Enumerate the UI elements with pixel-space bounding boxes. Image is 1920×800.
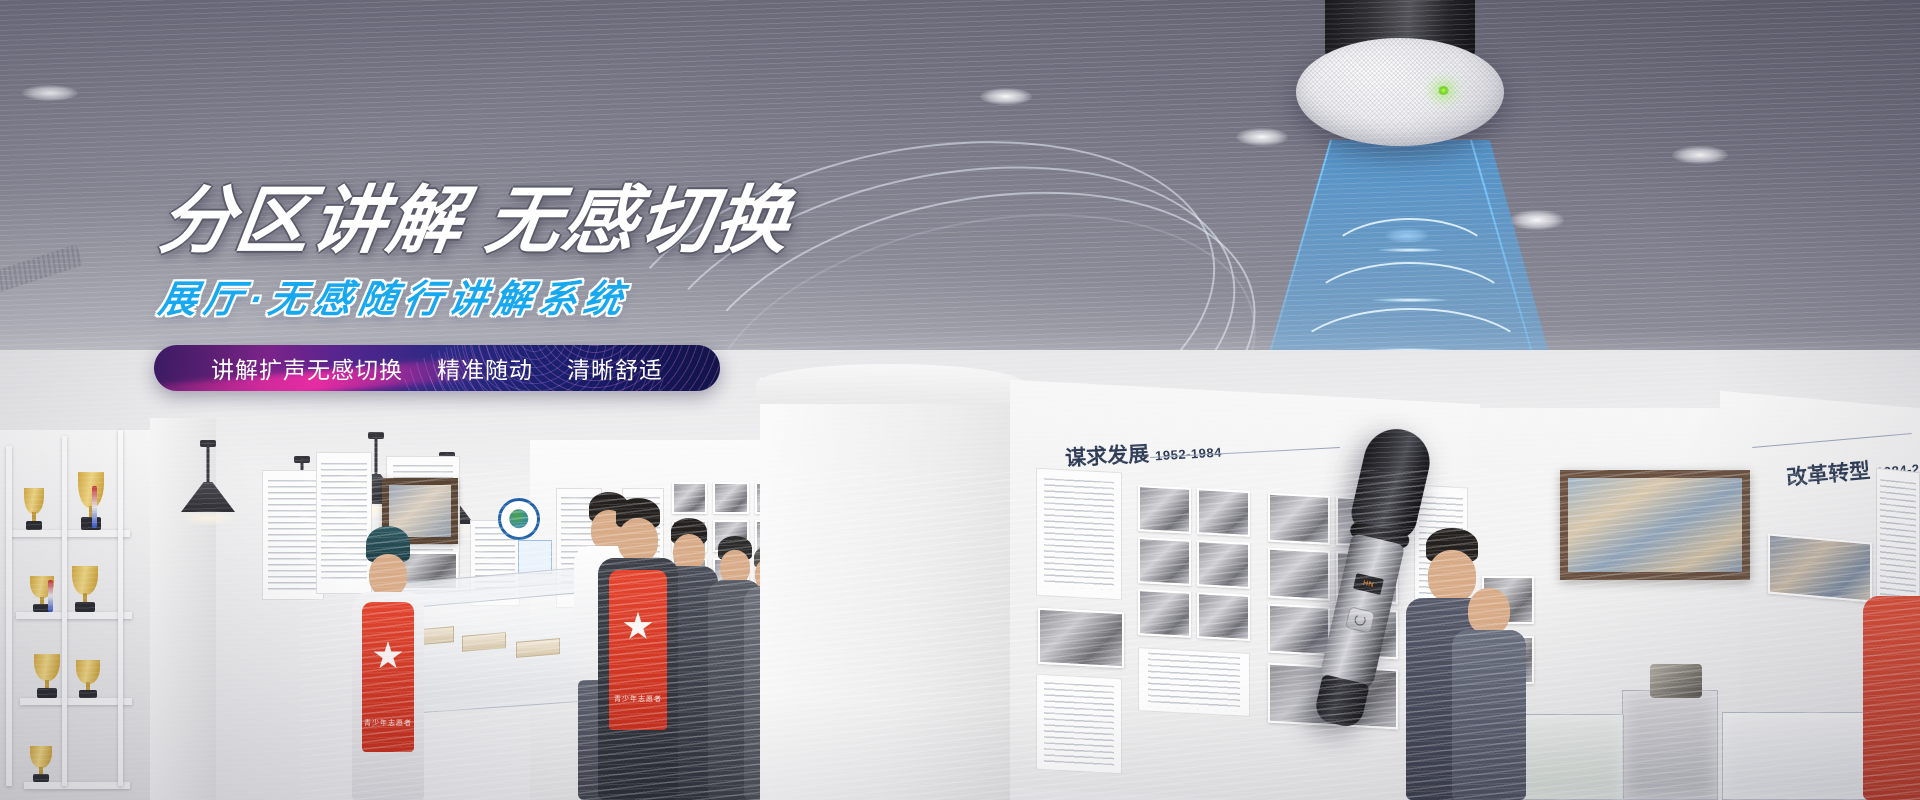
school-emblem (498, 498, 540, 540)
wall-curved-column (760, 378, 1010, 800)
exhibit-panel (1036, 674, 1122, 775)
speaker-status-led (1437, 86, 1450, 95)
downlight-icon (1236, 128, 1288, 146)
visitor: 青少年志愿者 (350, 530, 426, 800)
photo-grid (1138, 485, 1250, 641)
downlight-icon (1672, 146, 1728, 164)
trophy (76, 660, 100, 698)
trophy-display-shelves (0, 430, 160, 800)
banner-headline: 分区讲解 无感切换 (154, 182, 945, 260)
ceiling-ring (1540, 188, 1630, 214)
trophy-ribbon (48, 580, 53, 612)
visitor: 青少年志愿者 (596, 500, 680, 800)
banner-copy: 分区讲解 无感切换 展厅·无感随行讲解系统 讲解扩声无感切换 精准随动 清晰舒适 (160, 182, 940, 391)
pedestal (1622, 690, 1718, 800)
feature-pill: 讲解扩声无感切换 精准随动 清晰舒适 (154, 345, 720, 391)
downlight-icon (22, 85, 78, 101)
exhibit-panel (1036, 468, 1122, 601)
feature-item: 精准随动 (437, 351, 533, 385)
trophy-ribbon (92, 486, 97, 528)
exhibit-panel (262, 470, 324, 600)
exhibit-panel (1138, 647, 1250, 717)
banner-subline: 展厅·无感随行讲解系统 (155, 268, 945, 323)
trophy (78, 472, 104, 530)
downlight-icon (1510, 210, 1564, 230)
promo-banner: 青少年志愿者 青少年志愿者 谋求发展1952- (0, 0, 1920, 800)
trophy (34, 654, 60, 698)
vest-label: 青少年志愿者 (364, 718, 412, 728)
visitor (1862, 596, 1920, 800)
ceiling-speaker (1285, 0, 1515, 154)
display-case (1722, 712, 1872, 800)
exhibit-panel (1876, 468, 1920, 613)
trophy (72, 566, 98, 612)
section-title-text: 改革转型 (1785, 460, 1871, 490)
sound-wave-core (1372, 298, 1448, 302)
exhibit-photo (1038, 608, 1124, 669)
trophy (24, 488, 44, 530)
exhibit-photo (1768, 533, 1872, 602)
visitor (1450, 588, 1528, 800)
downlight-icon (980, 88, 1032, 105)
feature-item: 清晰舒适 (567, 351, 663, 385)
speaker-grille (1296, 38, 1504, 146)
feature-list: 讲解扩声无感切换 精准随动 清晰舒适 (211, 351, 663, 385)
vest-label: 青少年志愿者 (614, 694, 662, 704)
trophy (30, 746, 52, 782)
exhibit-panel (518, 540, 552, 574)
feature-item: 讲解扩声无感切换 (211, 351, 403, 385)
section-title-text: 谋求发展 (1065, 443, 1150, 471)
exhibit-artifact (1650, 664, 1702, 698)
sound-wave-core (1378, 248, 1442, 252)
pendant-lamp (178, 440, 238, 530)
mural-painting (1560, 470, 1750, 580)
